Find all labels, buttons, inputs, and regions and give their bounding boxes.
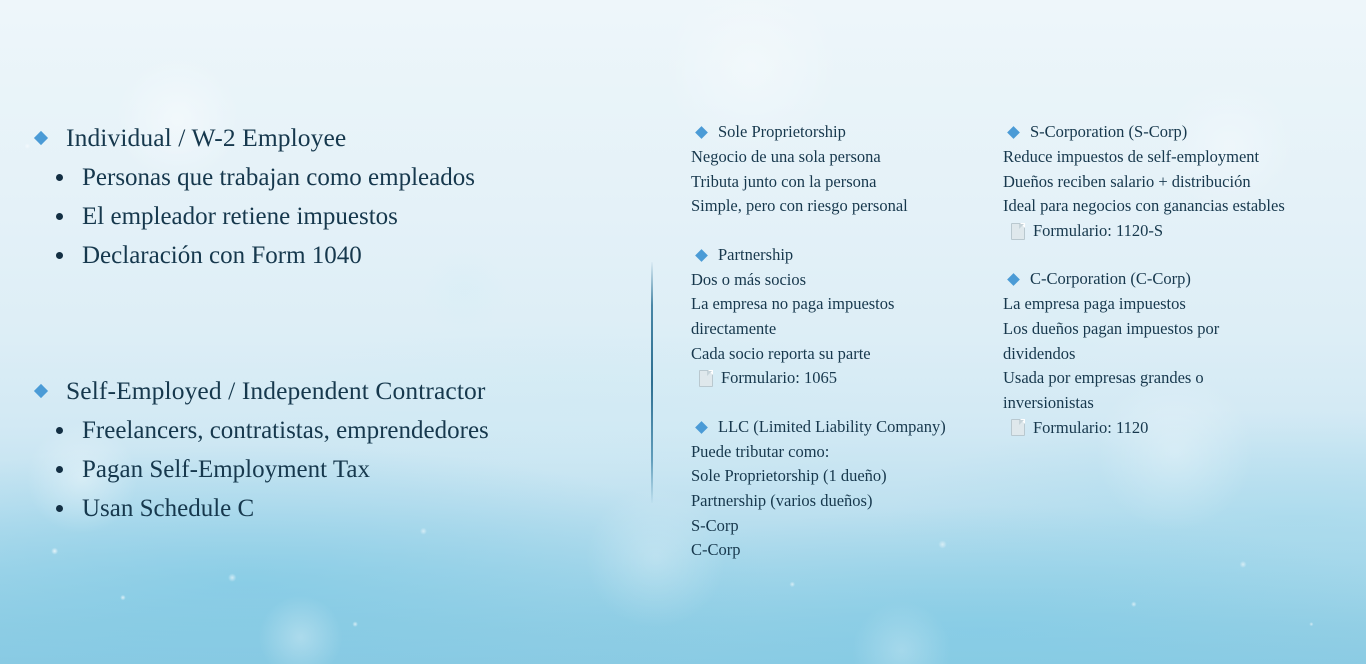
card-line: Partnership (varios dueños) (691, 489, 991, 514)
card-line: Los dueños pagan impuestos por (1003, 317, 1353, 342)
left-group-individual: Individual / W-2 Employee Personas que t… (36, 118, 616, 275)
card-line: C-Corp (691, 538, 991, 563)
list-item-label: Pagan Self-Employment Tax (82, 456, 370, 484)
left-group-heading: Individual / W-2 Employee (66, 124, 346, 152)
left-group-heading: Self-Employed / Independent Contractor (66, 377, 485, 405)
left-group-heading-row: Individual / W-2 Employee (36, 118, 616, 158)
diamond-bullet-icon (695, 421, 708, 434)
list-item: Freelancers, contratistas, emprendedores (36, 411, 616, 450)
right-column: S-Corporation (S-Corp) Reduce impuestos … (1003, 120, 1353, 440)
card-s-corporation: S-Corporation (S-Corp) Reduce impuestos … (1003, 120, 1353, 243)
vertical-divider (651, 262, 653, 503)
card-line: Sole Proprietorship (1 dueño) (691, 464, 991, 489)
card-llc: LLC (Limited Liability Company) Puede tr… (691, 415, 991, 563)
card-line: Dueños reciben salario + distribución (1003, 170, 1353, 195)
list-item-label: Declaración con Form 1040 (82, 242, 362, 270)
form-reference: Formulario: 1120 (1003, 415, 1353, 440)
card-line: Dos o más socios (691, 268, 991, 293)
left-group-heading-row: Self-Employed / Independent Contractor (36, 371, 616, 411)
card-heading-row: LLC (Limited Liability Company) (691, 415, 991, 440)
dot-bullet-icon (56, 174, 63, 181)
list-item-label: Freelancers, contratistas, emprendedores (82, 417, 489, 445)
diamond-bullet-icon (695, 249, 708, 262)
middle-column: Sole Proprietorship Negocio de una sola … (691, 120, 991, 563)
slide-canvas: Individual / W-2 Employee Personas que t… (0, 0, 1366, 664)
list-item-label: Personas que trabajan como empleados (82, 164, 475, 192)
list-item: El empleador retiene impuestos (36, 197, 616, 236)
card-line: Tributa junto con la persona (691, 170, 991, 195)
card-line: Puede tributar como: (691, 440, 991, 465)
list-item: Usan Schedule C (36, 489, 616, 528)
dot-bullet-icon (56, 505, 63, 512)
document-icon (699, 370, 713, 387)
diamond-bullet-icon (695, 126, 708, 139)
document-icon (1011, 419, 1025, 436)
document-icon (1011, 223, 1025, 240)
card-line: Negocio de una sola persona (691, 145, 991, 170)
card-line: Simple, pero con riesgo personal (691, 194, 991, 219)
list-item: Pagan Self-Employment Tax (36, 450, 616, 489)
card-line: La empresa no paga impuestos (691, 292, 991, 317)
card-line: La empresa paga impuestos (1003, 292, 1353, 317)
diamond-bullet-icon (34, 384, 48, 398)
card-line: Ideal para negocios con ganancias establ… (1003, 194, 1353, 219)
list-item-label: Usan Schedule C (82, 495, 254, 523)
diamond-bullet-icon (34, 131, 48, 145)
card-line: Usada por empresas grandes o (1003, 366, 1353, 391)
left-column: Individual / W-2 Employee Personas que t… (36, 118, 616, 528)
diamond-bullet-icon (1007, 274, 1020, 287)
diamond-bullet-icon (1007, 126, 1020, 139)
list-item-label: El empleador retiene impuestos (82, 203, 398, 231)
card-line: Reduce impuestos de self-employment (1003, 145, 1353, 170)
dot-bullet-icon (56, 252, 63, 259)
dot-bullet-icon (56, 466, 63, 473)
card-heading: Partnership (718, 246, 793, 265)
card-heading-row: S-Corporation (S-Corp) (1003, 120, 1353, 145)
card-line: S-Corp (691, 514, 991, 539)
card-line: dividendos (1003, 342, 1353, 367)
card-heading-row: Partnership (691, 243, 991, 268)
form-reference: Formulario: 1120-S (1003, 219, 1353, 244)
form-reference-label: Formulario: 1120-S (1033, 221, 1163, 241)
card-sole-proprietorship: Sole Proprietorship Negocio de una sola … (691, 120, 991, 219)
form-reference: Formulario: 1065 (691, 366, 991, 391)
card-c-corporation: C-Corporation (C-Corp) La empresa paga i… (1003, 267, 1353, 440)
dot-bullet-icon (56, 213, 63, 220)
card-heading: S-Corporation (S-Corp) (1030, 123, 1187, 142)
left-group-self-employed: Self-Employed / Independent Contractor F… (36, 371, 616, 528)
form-reference-label: Formulario: 1065 (721, 368, 837, 388)
card-line: inversionistas (1003, 391, 1353, 416)
dot-bullet-icon (56, 427, 63, 434)
card-heading: C-Corporation (C-Corp) (1030, 270, 1191, 289)
list-item: Declaración con Form 1040 (36, 236, 616, 275)
card-heading: LLC (Limited Liability Company) (718, 418, 946, 437)
card-heading: Sole Proprietorship (718, 123, 846, 142)
form-reference-label: Formulario: 1120 (1033, 418, 1148, 438)
card-partnership: Partnership Dos o más socios La empresa … (691, 243, 991, 391)
list-item: Personas que trabajan como empleados (36, 158, 616, 197)
card-heading-row: Sole Proprietorship (691, 120, 991, 145)
card-heading-row: C-Corporation (C-Corp) (1003, 267, 1353, 292)
card-line: Cada socio reporta su parte (691, 342, 991, 367)
card-line: directamente (691, 317, 991, 342)
slide-content: Individual / W-2 Employee Personas que t… (0, 0, 1366, 664)
